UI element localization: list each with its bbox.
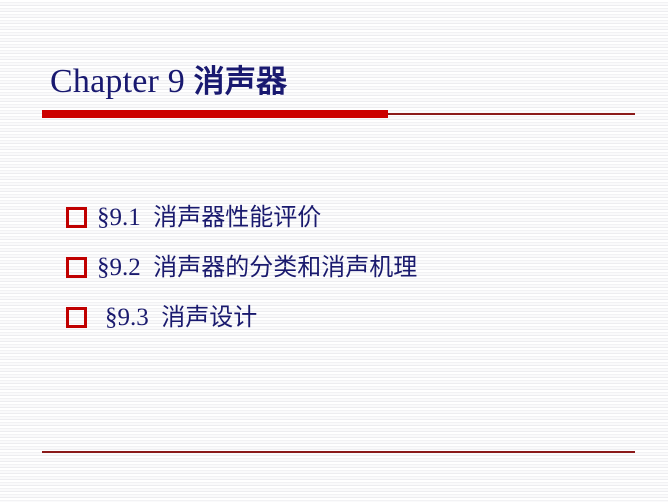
list-item[interactable]: §9.3 消声设计 (66, 292, 646, 342)
agenda-list: §9.1 消声器性能评价 §9.2 消声器的分类和消声机理 §9.3 消声设计 (66, 192, 646, 342)
list-item-number: §9.3 (105, 304, 149, 331)
list-item[interactable]: §9.1 消声器性能评价 (66, 192, 646, 242)
list-item-text: §9.2 消声器的分类和消声机理 (97, 252, 417, 283)
list-item-number: §9.2 (97, 254, 141, 281)
page-title-latin: Chapter 9 (50, 63, 194, 100)
hollow-red-square-bullet-icon (66, 307, 87, 328)
page-title-cjk: 消声器 (194, 64, 288, 100)
title-underline-thick-bar (42, 110, 388, 118)
list-item-label: 消声设计 (161, 303, 257, 331)
list-item[interactable]: §9.2 消声器的分类和消声机理 (66, 242, 646, 292)
footer-rule (42, 451, 635, 453)
list-item-spacer (141, 204, 154, 231)
list-item-text: §9.3 消声设计 (97, 302, 257, 333)
list-item-text: §9.1 消声器性能评价 (97, 202, 321, 233)
hollow-red-square-bullet-icon (66, 257, 87, 278)
hollow-red-square-bullet-icon (66, 207, 87, 228)
list-item-label: 消声器的分类和消声机理 (153, 253, 417, 281)
list-item-label: 消声器性能评价 (153, 203, 321, 231)
page-title: Chapter 9 消声器 (50, 60, 287, 104)
list-item-spacer (141, 254, 154, 281)
slide-canvas: Chapter 9 消声器 §9.1 消声器性能评价 §9.2 消声器的分类和消… (0, 0, 668, 502)
list-item-number: §9.1 (97, 204, 141, 231)
list-item-spacer (149, 304, 162, 331)
